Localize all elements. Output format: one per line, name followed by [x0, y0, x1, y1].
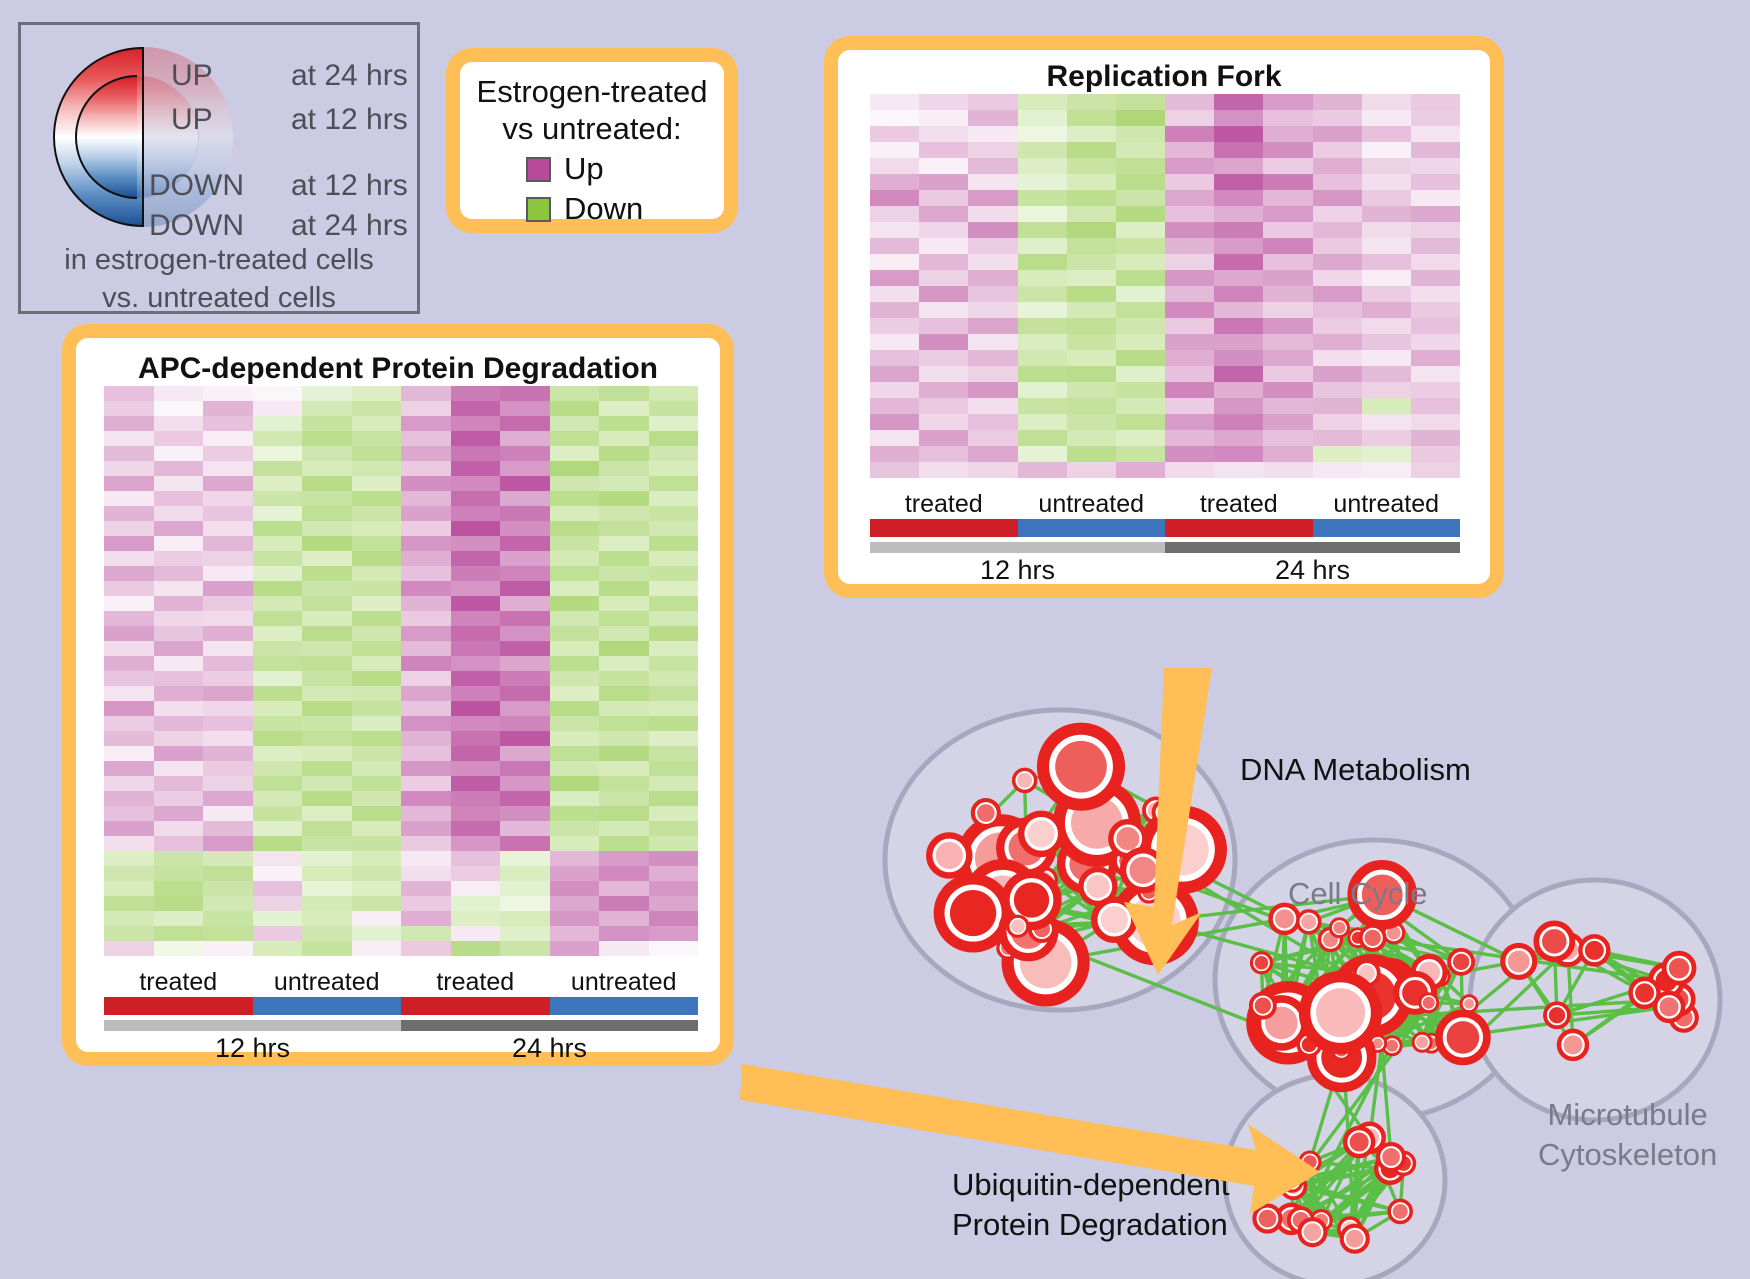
network-node-core — [1259, 1210, 1277, 1228]
network-node-core — [1660, 997, 1679, 1016]
cluster-label-ubiquitin: Ubiquitin-dependent Protein Degradation — [952, 1165, 1230, 1245]
network-node-core — [1346, 1230, 1364, 1248]
network-node-core — [1011, 919, 1025, 933]
network-node-core — [1382, 1148, 1400, 1166]
network-node-core — [950, 890, 996, 936]
network-node-core — [1101, 906, 1128, 933]
network-node-core — [1423, 997, 1435, 1009]
network-node-core — [1447, 1021, 1480, 1054]
network-node-core — [1116, 827, 1139, 850]
network-node-core — [1304, 1223, 1322, 1241]
network-node-core — [1464, 999, 1474, 1009]
network-node-core — [1669, 958, 1689, 978]
network-node-core — [1563, 1035, 1582, 1054]
cluster-label-cell-cycle: Cell Cycle — [1288, 876, 1428, 912]
network-node-core — [1542, 929, 1566, 953]
network-node-core — [1416, 1036, 1428, 1048]
network-node-core — [1350, 1133, 1369, 1152]
network-node-core — [977, 804, 995, 822]
network-node-core — [1303, 1155, 1317, 1169]
network-node-core — [1585, 941, 1604, 960]
network-node-core — [1549, 1007, 1565, 1023]
network-node-core — [936, 842, 963, 869]
network-node-core — [1129, 857, 1156, 884]
network-node-core — [1017, 773, 1032, 788]
network-node-core — [1028, 820, 1055, 847]
cluster-label-dna-metabolism: DNA Metabolism — [1240, 752, 1471, 788]
cluster-label-microtubule: Microtubule Cytoskeleton — [1538, 1095, 1717, 1175]
network-node-core — [1508, 951, 1530, 973]
network-node-core — [1301, 914, 1316, 929]
network-node-core — [1255, 956, 1269, 970]
network-node-core — [1086, 875, 1109, 898]
network-node-core — [1386, 1040, 1398, 1052]
pathway-network-diagram — [0, 0, 1750, 1279]
network-node-core — [1393, 1204, 1408, 1219]
network-node-core — [1275, 909, 1294, 928]
network-node-core — [1285, 1174, 1299, 1188]
network-node-core — [1333, 922, 1345, 934]
network-node-core — [1365, 930, 1381, 946]
network-node-core — [1316, 988, 1365, 1037]
network-node-core — [1157, 804, 1173, 820]
network-node-core — [1014, 882, 1049, 917]
network-node-core — [1453, 954, 1469, 970]
network-node-core — [1255, 998, 1271, 1014]
network-node-core — [1055, 741, 1107, 793]
network-node-core — [1635, 983, 1654, 1002]
